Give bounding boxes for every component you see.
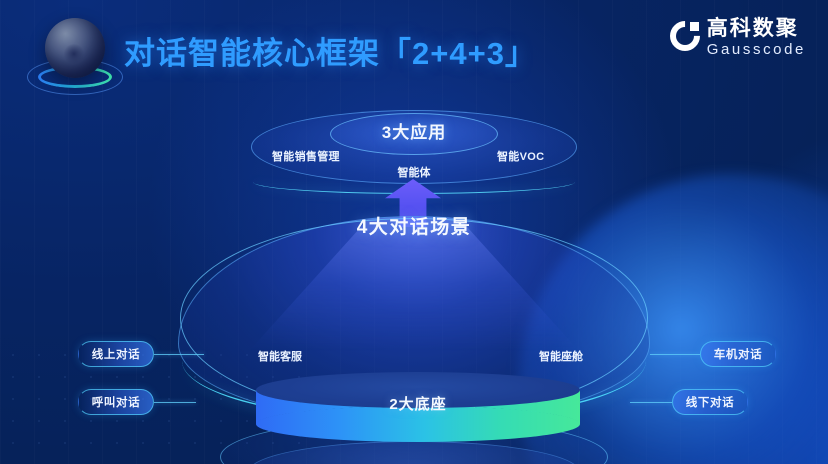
brand-name-cn: 高科数聚 (707, 18, 806, 39)
connector-offline-dialog (630, 402, 672, 403)
connector-call-dialog (154, 402, 196, 403)
scenario-item-cockpit: 智能座舱 (539, 348, 583, 364)
side-label-car-dialog[interactable]: 车机对话 (700, 341, 776, 367)
scenarios-title: 4大对话场景 (314, 212, 514, 239)
sphere-ball-icon (45, 18, 105, 78)
application-item-sales: 智能销售管理 (272, 148, 340, 164)
gausscode-c-mark-icon (670, 21, 700, 51)
applications-title: 3大应用 (330, 118, 498, 143)
slide-header: 对话智能核心框架「2+4+3」 高科数聚 Gausscode (0, 0, 828, 104)
slide-canvas: 对话智能核心框架「2+4+3」 高科数聚 Gausscode 3大应用 智能销售… (0, 0, 828, 464)
framework-diagram: 3大应用 智能销售管理 智能VOC 智能体 4大对话场景 智能客服 智能座舱 智… (0, 96, 828, 464)
page-title: 对话智能核心框架「2+4+3」 (124, 28, 537, 73)
brand-logo: 高科数聚 Gausscode (670, 18, 806, 57)
brand-name-en: Gausscode (707, 42, 806, 57)
application-item-voc: 智能VOC (497, 148, 544, 164)
agent-label: 智能体 (352, 164, 476, 180)
connector-online-dialog (154, 354, 204, 355)
side-label-call-dialog[interactable]: 呼叫对话 (78, 389, 154, 415)
foundation-title: 2大底座 (256, 393, 580, 414)
connector-car-dialog (650, 354, 700, 355)
scenario-item-kefu: 智能客服 (258, 348, 302, 364)
side-label-offline-dialog[interactable]: 线下对话 (672, 389, 748, 415)
sphere-on-ring-icon (26, 14, 124, 98)
side-label-online-dialog[interactable]: 线上对话 (78, 341, 154, 367)
